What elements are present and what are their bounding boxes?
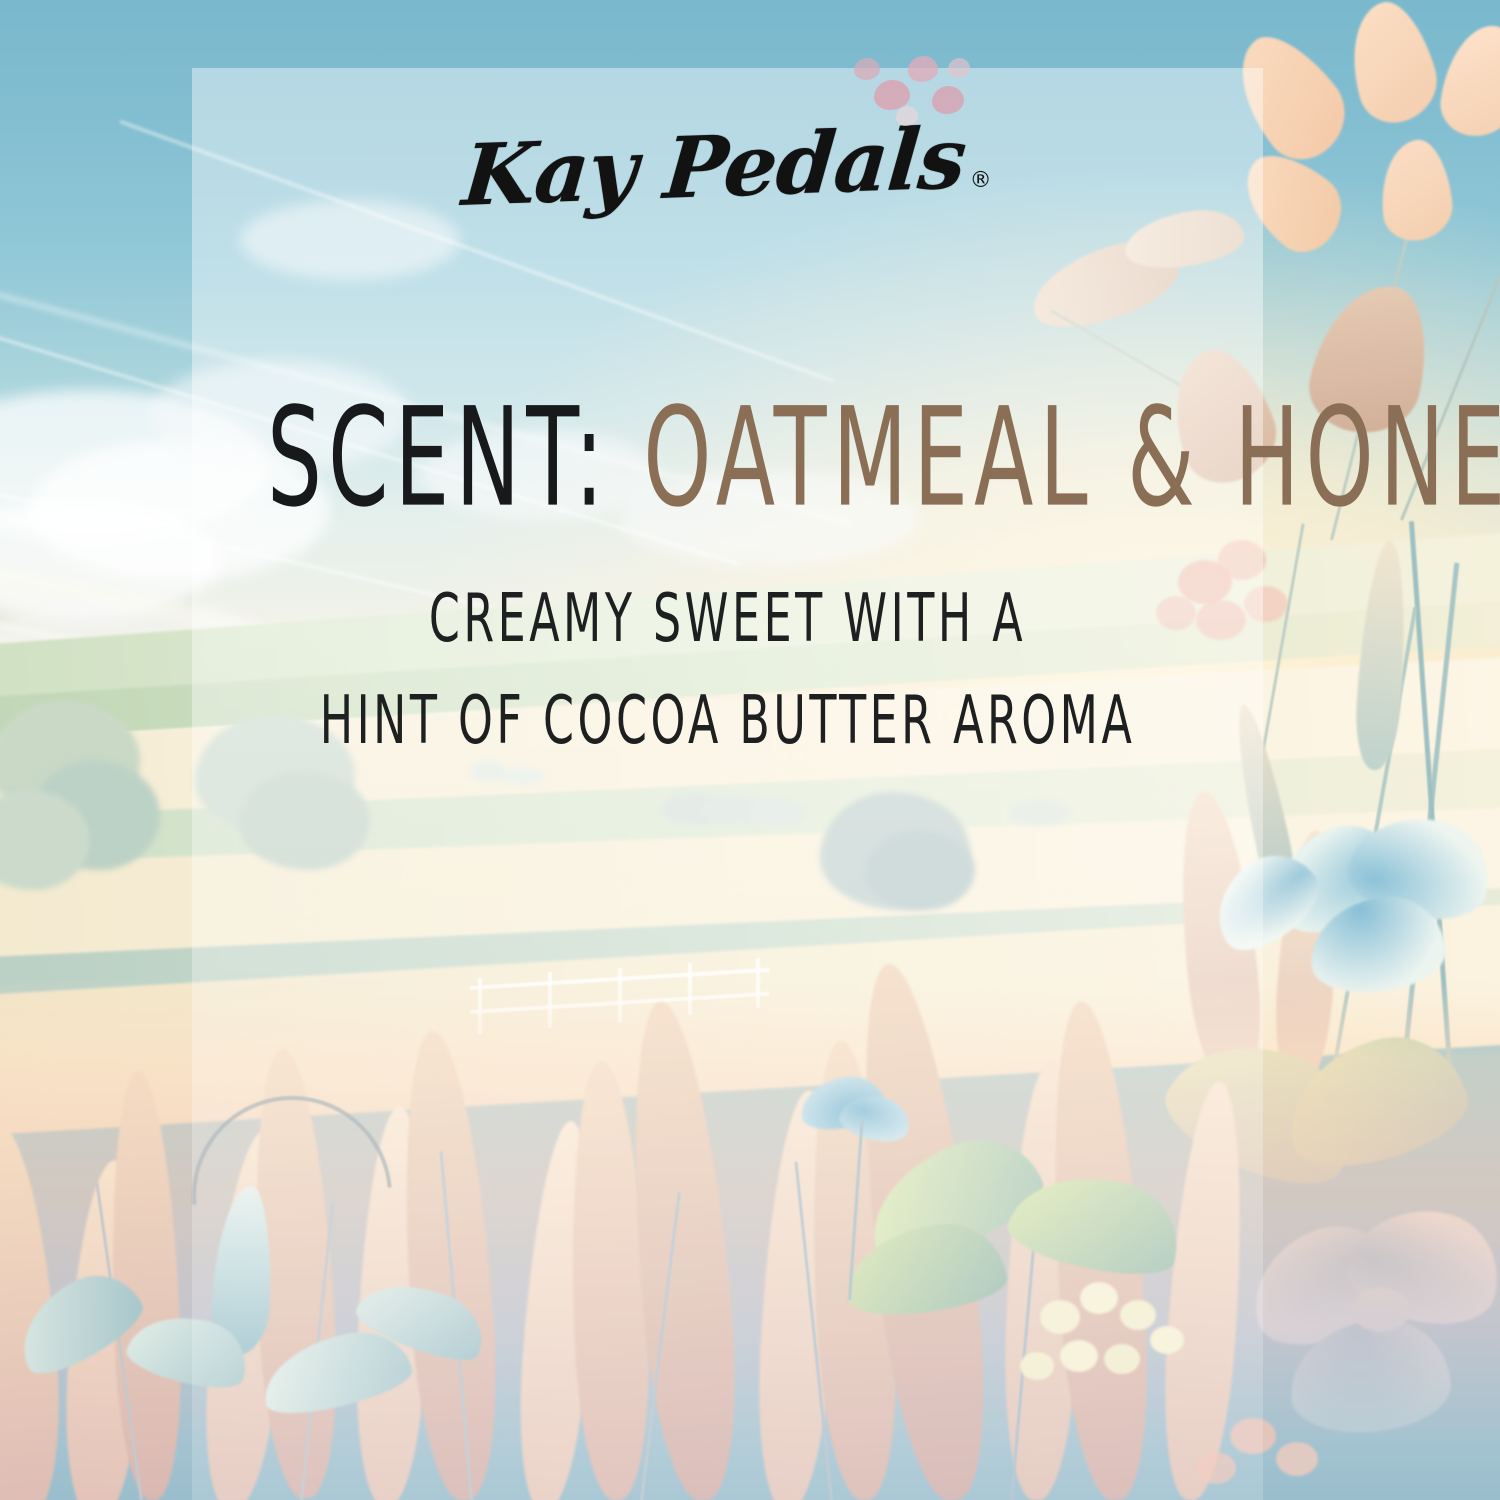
registered-trademark-icon: ® xyxy=(970,168,992,193)
brand-logo[interactable]: Kay Pedals ® xyxy=(192,128,1263,205)
headline-value: OATMEAL & HONEY xyxy=(643,379,1500,538)
poster-content: Kay Pedals ® SCENT: OATMEAL & HONEY CREA… xyxy=(192,68,1263,1500)
scent-description: CREAMY SWEET WITH A HINT OF COCOA BUTTER… xyxy=(256,568,1198,772)
headline-prefix: SCENT: xyxy=(267,379,610,538)
scent-poster: Kay Pedals ® SCENT: OATMEAL & HONEY CREA… xyxy=(0,0,1500,1500)
scent-description-line1: CREAMY SWEET WITH A xyxy=(256,568,1198,670)
scent-description-line2: HINT OF COCOA BUTTER AROMA xyxy=(256,670,1198,772)
rose-petals-icon xyxy=(870,50,990,140)
page-title: SCENT: OATMEAL & HONEY xyxy=(267,390,1188,527)
